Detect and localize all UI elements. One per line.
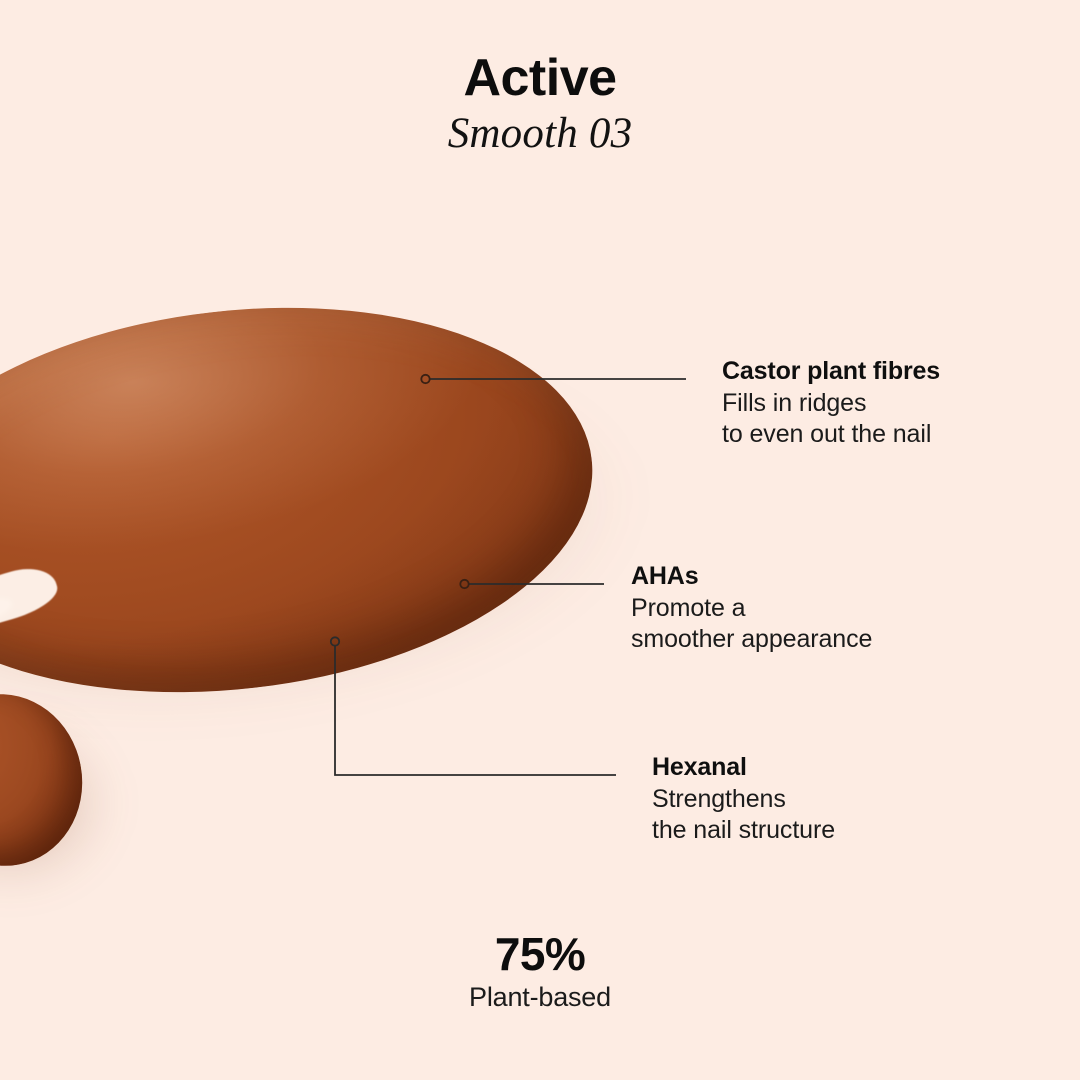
callout-title: Castor plant fibres — [722, 356, 940, 388]
callout-title: AHAs — [631, 561, 872, 593]
polish-droplet-large — [0, 271, 613, 728]
product-artwork — [0, 0, 1080, 1080]
callout-description-line: smoother appearance — [631, 624, 872, 656]
callout-hexanal: Hexanal Strengthens the nail structure — [652, 752, 835, 847]
callout-description-line: to even out the nail — [722, 419, 940, 451]
callout-title: Hexanal — [652, 752, 835, 784]
callout-description-line: Promote a — [631, 593, 872, 625]
callout-description-line: the nail structure — [652, 815, 835, 847]
callout-castor-plant-fibres: Castor plant fibres Fills in ridges to e… — [722, 356, 940, 451]
callout-ahas: AHAs Promote a smoother appearance — [631, 561, 872, 656]
callout-description-line: Strengthens — [652, 784, 835, 816]
product-ingredient-infographic: Active Smooth 03 Castor plant fibres Fil… — [0, 0, 1080, 1080]
callout-description-line: Fills in ridges — [722, 388, 940, 420]
